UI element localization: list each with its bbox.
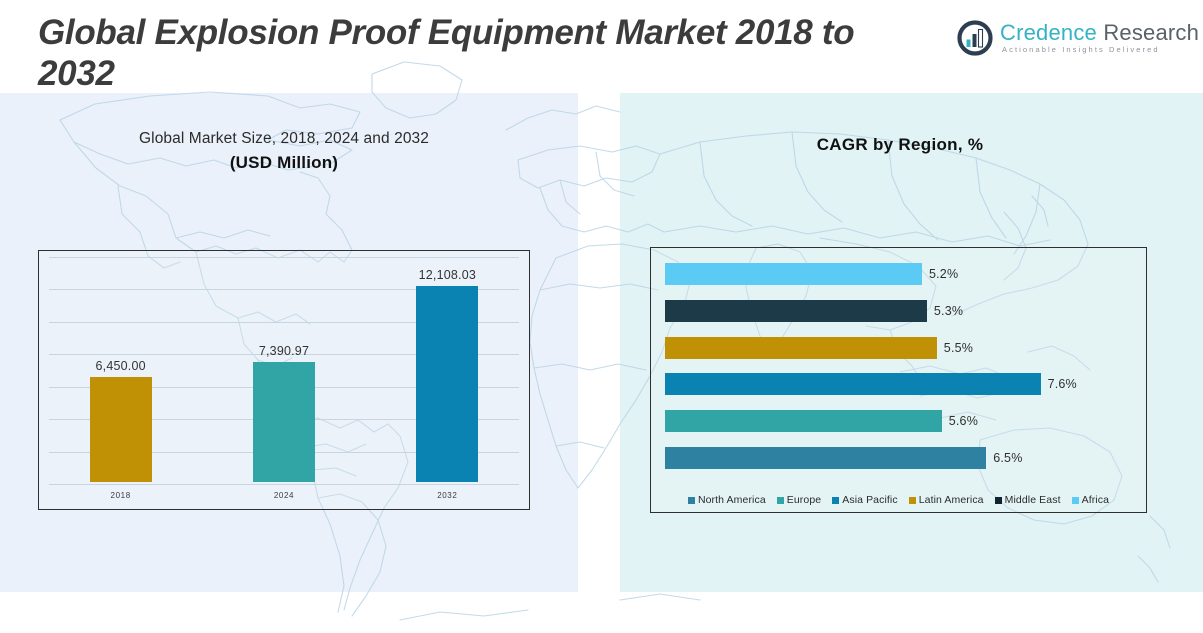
x-axis-tick-2024: 2024 (224, 491, 344, 500)
horizontal-bar-row: 7.6% (651, 373, 1146, 395)
bar-value-label: 12,108.03 (419, 268, 476, 282)
page-title: Global Explosion Proof Equipment Market … (38, 12, 928, 94)
bar-value-label: 5.6% (949, 414, 978, 428)
bar-value-label: 7,390.97 (259, 344, 309, 358)
brand-logo: Credence Research Actionable Insights De… (957, 16, 1187, 60)
legend-label: Latin America (919, 494, 984, 506)
legend-item-africa: Africa (1072, 494, 1109, 506)
bar-value-label: 5.2% (929, 267, 958, 281)
x-axis-tick-2032: 2032 (387, 491, 507, 500)
bar-value-label: 5.5% (944, 341, 973, 355)
horizontal-bar-row: 5.3% (651, 300, 1146, 322)
horizontal-bar-row: 5.6% (651, 410, 1146, 432)
logo-word-credence: Credence (1000, 20, 1097, 45)
vertical-bar-group: 7,390.97 (224, 257, 344, 482)
right-chart-title-text: CAGR by Region, % (650, 132, 1150, 158)
legend-swatch (688, 497, 695, 504)
bar-latin-america (665, 337, 937, 359)
vertical-bar-group: 12,108.03 (387, 257, 507, 482)
cagr-chart-legend: North AmericaEuropeAsia PacificLatin Ame… (651, 494, 1146, 506)
legend-item-middle-east: Middle East (995, 494, 1061, 506)
legend-item-north-america: North America (688, 494, 766, 506)
bar-value-label: 6,450.00 (96, 359, 146, 373)
bar-2018 (90, 377, 152, 482)
bar-north-america (665, 447, 986, 469)
bar-value-label: 7.6% (1048, 377, 1077, 391)
legend-label: Europe (787, 494, 821, 506)
legend-label: Africa (1082, 494, 1109, 506)
legend-swatch (995, 497, 1002, 504)
vertical-bars-area: 6,450.007,390.9712,108.03 (39, 257, 529, 482)
horizontal-bars-area: 5.2%5.3%5.5%7.6%5.6%6.5% (651, 256, 1146, 476)
bar-africa (665, 263, 922, 285)
legend-swatch (1072, 497, 1079, 504)
legend-label: Middle East (1005, 494, 1061, 506)
horizontal-bar-row: 5.2% (651, 263, 1146, 285)
x-axis-tick-2018: 2018 (61, 491, 181, 500)
header: Global Explosion Proof Equipment Market … (0, 0, 1203, 93)
cagr-by-region-bar-chart: 5.2%5.3%5.5%7.6%5.6%6.5% North AmericaEu… (650, 247, 1147, 513)
horizontal-bar-row: 6.5% (651, 447, 1146, 469)
logo-tagline: Actionable Insights Delivered (1002, 45, 1199, 55)
legend-swatch (909, 497, 916, 504)
credence-bar-chart-circle-logo-icon (957, 20, 993, 56)
right-chart-title: CAGR by Region, % (650, 132, 1150, 158)
left-chart-title: Global Market Size, 2018, 2024 and 2032 … (38, 128, 530, 176)
legend-label: Asia Pacific (842, 494, 897, 506)
legend-swatch (832, 497, 839, 504)
logo-wordmark: Credence Research (1000, 21, 1199, 45)
vertical-bar-group: 6,450.00 (61, 257, 181, 482)
horizontal-bar-row: 5.5% (651, 337, 1146, 359)
bar-2032 (416, 286, 478, 482)
bar-europe (665, 410, 942, 432)
bar-middle-east (665, 300, 927, 322)
vertical-chart-x-axis: 201820242032 (39, 482, 529, 509)
logo-word-research: Research (1103, 20, 1199, 45)
bar-2024 (253, 362, 315, 482)
legend-item-latin-america: Latin America (909, 494, 984, 506)
bar-value-label: 5.3% (934, 304, 963, 318)
infographic-root: Global Explosion Proof Equipment Market … (0, 0, 1203, 633)
left-chart-title-line1: Global Market Size, 2018, 2024 and 2032 (38, 128, 530, 150)
left-chart-title-line2: (USD Million) (38, 150, 530, 176)
legend-item-asia-pacific: Asia Pacific (832, 494, 897, 506)
legend-item-europe: Europe (777, 494, 821, 506)
market-size-bar-chart: 6,450.007,390.9712,108.03 201820242032 (38, 250, 530, 510)
legend-swatch (777, 497, 784, 504)
legend-label: North America (698, 494, 766, 506)
logo-text: Credence Research Actionable Insights De… (1000, 21, 1199, 55)
bar-value-label: 6.5% (993, 451, 1022, 465)
bar-asia-pacific (665, 373, 1041, 395)
